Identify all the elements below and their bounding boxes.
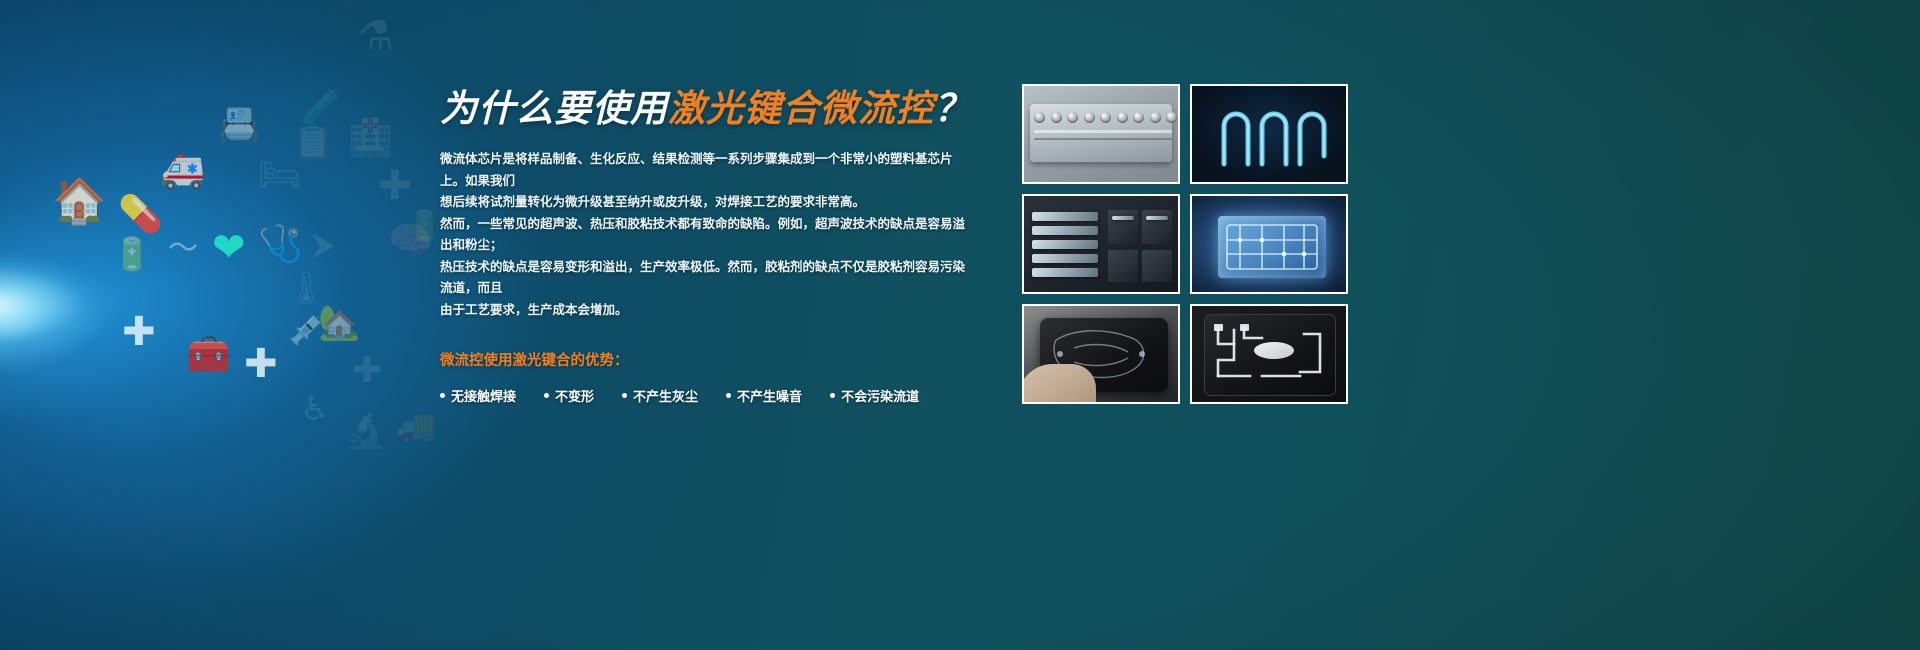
headline-highlight: 激光键合微流控 [668, 88, 934, 129]
list-item: 不产生灰尘 [622, 386, 698, 405]
list-item-label: 不变形 [555, 386, 594, 405]
bullet-dot-icon [544, 393, 549, 398]
list-item-label: 无接触焊接 [451, 386, 516, 405]
hand [1022, 364, 1096, 404]
plus-icon: ✚ [378, 166, 412, 206]
house-plus-icon: 🏠 [52, 180, 107, 224]
heart-pulse-icon: ❤ [212, 228, 246, 268]
list-item: 不变形 [544, 386, 594, 405]
truck-icon: 🚚 [396, 410, 436, 442]
well-row [1034, 112, 1180, 123]
promo-banner: ⚗ 🧪 📇 📋 🏥 🚑 🛏 ✚ 🏠 💊 🔋 ❤ 〜 🩺 ⮞ 🧠 🌡 ✚ 🏡 💉 … [0, 0, 1920, 650]
ambulance-icon: 🚑 [160, 152, 205, 188]
gallery-image-5 [1022, 304, 1180, 404]
first-aid-kit-icon: 🧰 [186, 336, 231, 372]
body-paragraphs: 微流体芯片是将样品制备、生化反应、结果检测等一系列步骤集成到一个非常小的塑料基芯… [440, 149, 970, 321]
headline-prefix: 为什么要使用 [440, 88, 668, 129]
paragraph-line: 微流体芯片是将样品制备、生化反应、结果检测等一系列步骤集成到一个非常小的塑料基芯… [440, 149, 970, 192]
headline-suffix: ？ [934, 88, 972, 129]
flask-icon: ⚗ [358, 16, 394, 56]
gallery-image-1 [1022, 84, 1180, 184]
thermometer-icon: 🌡 [286, 272, 327, 304]
black-cartridge-with-oval-chamber [1192, 306, 1346, 402]
banner-content: 为什么要使用激光键合微流控？ 微流体芯片是将样品制备、生化反应、结果检测等一系列… [440, 78, 970, 405]
reaction-chamber [1254, 342, 1294, 359]
gallery-image-4 [1190, 194, 1348, 294]
bullet-dot-icon [726, 393, 731, 398]
list-item: 不会污染流道 [830, 386, 919, 405]
clear-microfluidic-slides-on-tray [1024, 196, 1178, 292]
bullet-dot-icon [830, 393, 835, 398]
capsule-icon: 💊 [118, 196, 163, 232]
bullet-dot-icon [622, 393, 627, 398]
gallery-image-6 [1190, 304, 1348, 404]
advantages-subheading: 微流控使用激光键合的优势： [440, 349, 970, 370]
house-cross-icon: 🏡 [318, 306, 360, 340]
microfluidic-chip-strip-with-wells [1024, 86, 1178, 182]
channel-line [1034, 130, 1172, 133]
blue-translucent-manifold-block [1192, 196, 1346, 292]
test-tube-icon: 🧪 [300, 90, 342, 124]
paragraph-line: 热压技术的缺点是容易变形和溢出，生产效率极低。然而，胶粘剂的缺点不仅是胶粘剂容易… [440, 257, 970, 300]
pulse-line-icon: 〜 [168, 234, 198, 264]
list-item-label: 不产生噪音 [737, 386, 802, 405]
paragraph-line: 想后续将试剂量转化为微升级甚至纳升或皮升级，对焊接工艺的要求非常高。 [440, 192, 970, 214]
page-title: 为什么要使用激光键合微流控？ [440, 78, 970, 132]
battery-icon: 🔋 [112, 238, 152, 270]
wheelchair-icon: ♿ [300, 392, 330, 426]
id-card-icon: 📇 [218, 108, 260, 142]
bed-icon: 🛏 [258, 158, 301, 192]
list-item-label: 不产生灰尘 [633, 386, 698, 405]
list-item: 不产生噪音 [726, 386, 802, 405]
hand-holding-black-flexible-chip [1024, 306, 1178, 402]
battery-small-icon: 🔋 [406, 212, 443, 242]
list-item: 无接触焊接 [440, 386, 516, 405]
pulse-wave-icon: ⮞ [312, 228, 335, 260]
gallery-image-2 [1190, 84, 1348, 184]
dark-chip-with-blue-serpentine-channel [1192, 86, 1346, 182]
paragraph-line: 然而，一些常见的超声波、热压和胶粘技术都有致命的缺陷。例如，超声波技术的缺点是容… [440, 214, 970, 257]
list-item-label: 不会污染流道 [841, 386, 919, 405]
microscope-icon: 🔬 [344, 414, 386, 448]
light-beam-glow [0, 150, 460, 480]
plus-small-icon: ✚ [352, 352, 382, 388]
medical-cross-icon: ✚ [244, 344, 278, 384]
clipboard-icon: 📋 [292, 125, 334, 159]
channel-line [1034, 138, 1172, 140]
hospital-icon: 🏥 [348, 120, 393, 156]
stethoscope-icon: 🩺 [258, 226, 303, 262]
syringe-icon: 💉 [288, 312, 328, 344]
cross-icon: ✚ [122, 312, 156, 352]
paragraph-line: 由于工艺要求，生产成本会增加。 [440, 300, 970, 322]
gallery-image-3 [1022, 194, 1180, 294]
advantages-list: 无接触焊接 不变形 不产生灰尘 不产生噪音 不会污染流道 [440, 386, 970, 405]
light-beam-core [0, 210, 240, 400]
kidney-icon: 🧠 [388, 222, 433, 258]
bullet-dot-icon [440, 393, 445, 398]
product-image-gallery [1022, 84, 1348, 404]
